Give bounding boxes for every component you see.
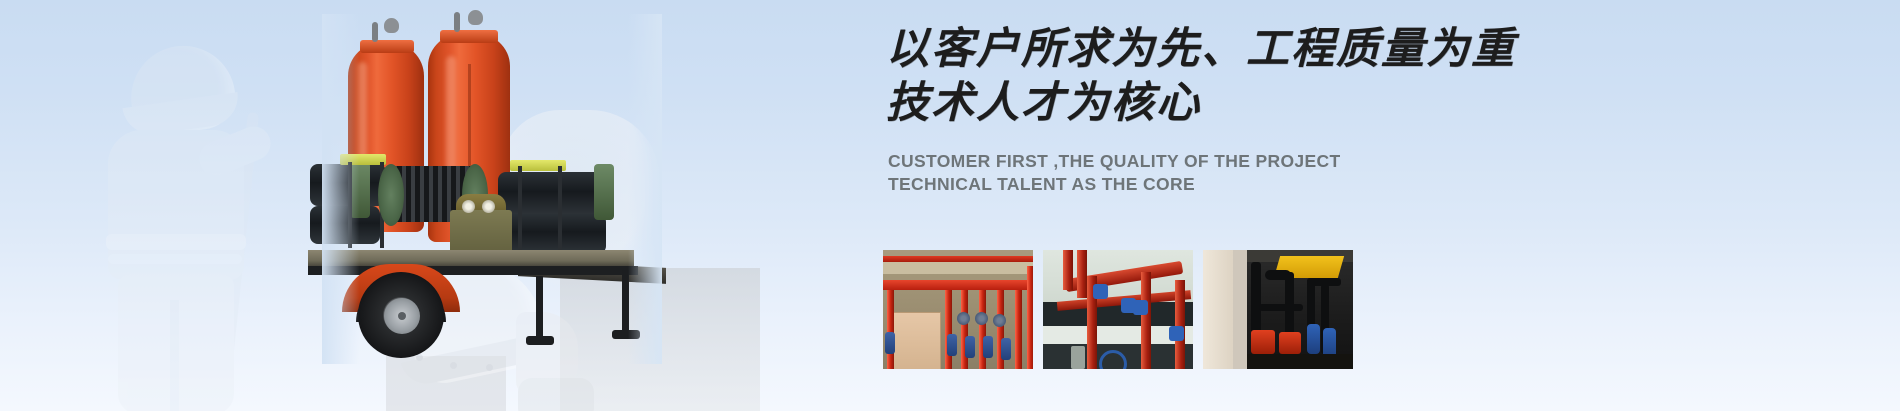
thumbnail-strip — [883, 250, 1353, 369]
hero-banner: 以客户所求为先、工程质量为重 技术人才为核心 CUSTOMER FIRST ,T… — [0, 0, 1900, 411]
firefighter-silhouette-watermark — [78, 38, 288, 411]
thumbnail-red-sprinkler-main-piping[interactable] — [1043, 250, 1193, 369]
thumbnail-fire-pump-riser-manifold[interactable] — [883, 250, 1033, 369]
banner-headline: 以客户所求为先、工程质量为重 技术人才为核心 — [886, 22, 1586, 130]
thumbnail-pump-room-equipment[interactable] — [1203, 250, 1353, 369]
product-photo-fire-trailer — [322, 14, 662, 364]
background-gray-panel-2 — [386, 356, 506, 411]
hose-bundle-right — [498, 172, 608, 216]
banner-subtitle: CUSTOMER FIRST ,THE QUALITY OF THE PROJE… — [888, 150, 1528, 196]
